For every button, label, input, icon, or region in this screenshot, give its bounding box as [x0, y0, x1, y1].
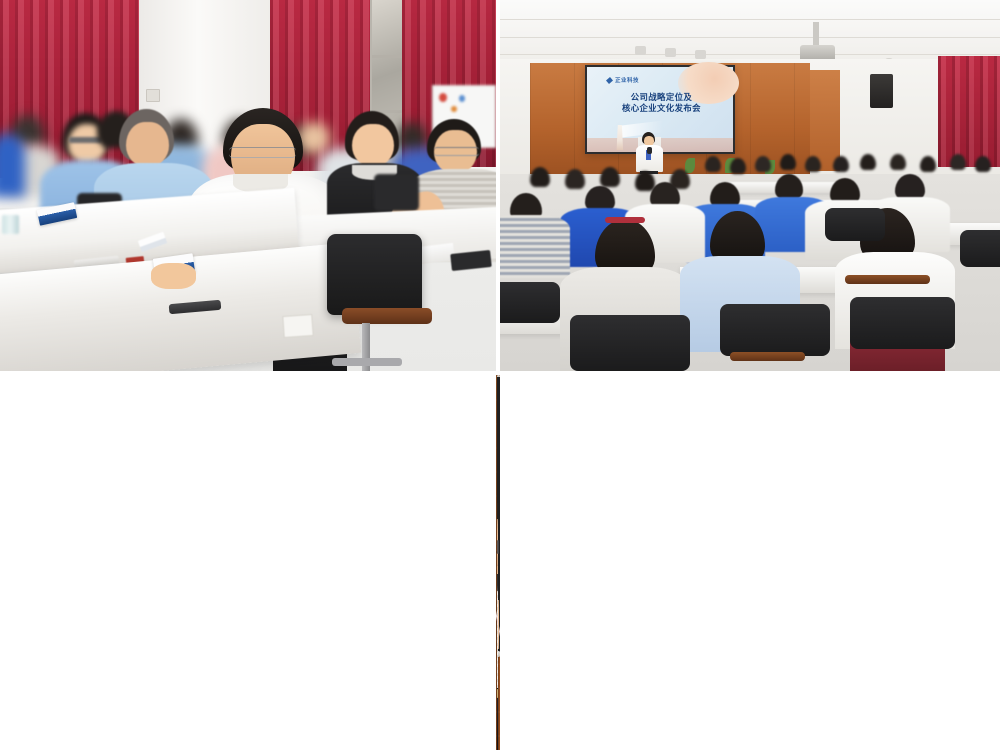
chair-back	[500, 282, 560, 323]
whiteboard-magnet-icon	[451, 106, 456, 112]
attendee-rear	[833, 156, 849, 172]
attendee-rear	[860, 154, 876, 170]
ceiling-seam	[500, 37, 1000, 38]
attendee-rear	[920, 156, 936, 172]
speaker-trousers	[497, 698, 498, 750]
chair-back	[720, 304, 830, 356]
slide-logo: 正业科技	[606, 76, 639, 84]
slide-logo-text: 正业科技	[615, 76, 639, 84]
photo-collage: 正业科技 公司战略定位及 核心企业文化发布会	[0, 0, 1000, 750]
attendee-second-face	[126, 122, 169, 167]
wall-speaker	[870, 74, 893, 107]
attendee-rear	[805, 156, 821, 172]
eyeglasses-icon	[434, 147, 479, 157]
collage-gutter-vertical-bottom	[500, 375, 1000, 750]
attendee-mid	[565, 169, 585, 189]
attendee-striped-body	[500, 215, 570, 278]
chair-back	[570, 315, 690, 371]
ceiling-seam	[500, 19, 1000, 20]
desk-label	[282, 314, 313, 338]
water-bottle	[2, 215, 19, 234]
attendee-mid	[530, 167, 550, 187]
ceiling-spotlight	[665, 48, 676, 57]
panel-audience-close-up	[0, 0, 496, 371]
foreground-attendee-fingers	[151, 263, 196, 289]
eyeglasses-icon	[497, 540, 499, 554]
office-chair-back	[327, 234, 421, 316]
notebook	[451, 250, 492, 271]
chair-back	[825, 208, 885, 241]
attendee-rear	[975, 156, 991, 172]
attendee-rear	[890, 154, 906, 170]
ceiling-spotlight	[635, 46, 646, 55]
panel-auditorium-wide: 正业科技 公司战略定位及 核心企业文化发布会	[500, 0, 1000, 371]
chair-back	[850, 297, 955, 349]
slide-title: 公司战略定位及 核心企业文化发布会	[600, 92, 723, 115]
wall-socket-icon	[146, 89, 160, 102]
eyeglasses-icon	[229, 147, 296, 158]
red-curtain-right	[938, 56, 1000, 167]
attendee-mid	[600, 167, 620, 187]
hair-tie-icon	[605, 217, 645, 223]
attendee-rear	[780, 154, 796, 170]
attendee-rear	[705, 156, 721, 172]
panel-speaker-culture-slide: 核心企业文化 正业科技 👥 📈	[496, 375, 500, 750]
attendee-rear	[950, 154, 966, 170]
office-chair-base	[332, 358, 401, 366]
slide-title-line1: 公司战略定位及	[600, 92, 723, 103]
attendee-woman-face	[352, 124, 394, 167]
attendee-rear	[755, 156, 771, 172]
whiteboard-magnet-icon	[459, 95, 465, 102]
chair-back	[960, 230, 1000, 267]
attendee-blue-polo	[775, 174, 803, 198]
office-chair-armrest	[342, 308, 431, 324]
ceiling-seam	[500, 54, 1000, 55]
chair-armrest	[845, 275, 930, 285]
collage-gutter-horizontal-right	[0, 375, 496, 750]
brand-logo-icon	[605, 77, 613, 84]
microphone-icon	[647, 147, 652, 154]
ceiling-spotlight	[695, 50, 706, 59]
window-mullion	[372, 55, 403, 58]
attendee-rear	[0, 134, 25, 197]
attendee-rear	[730, 158, 746, 174]
slide-title-line2: 核心企业文化发布会	[600, 103, 723, 114]
chair-armrest	[730, 352, 805, 361]
chair-back	[374, 174, 419, 211]
